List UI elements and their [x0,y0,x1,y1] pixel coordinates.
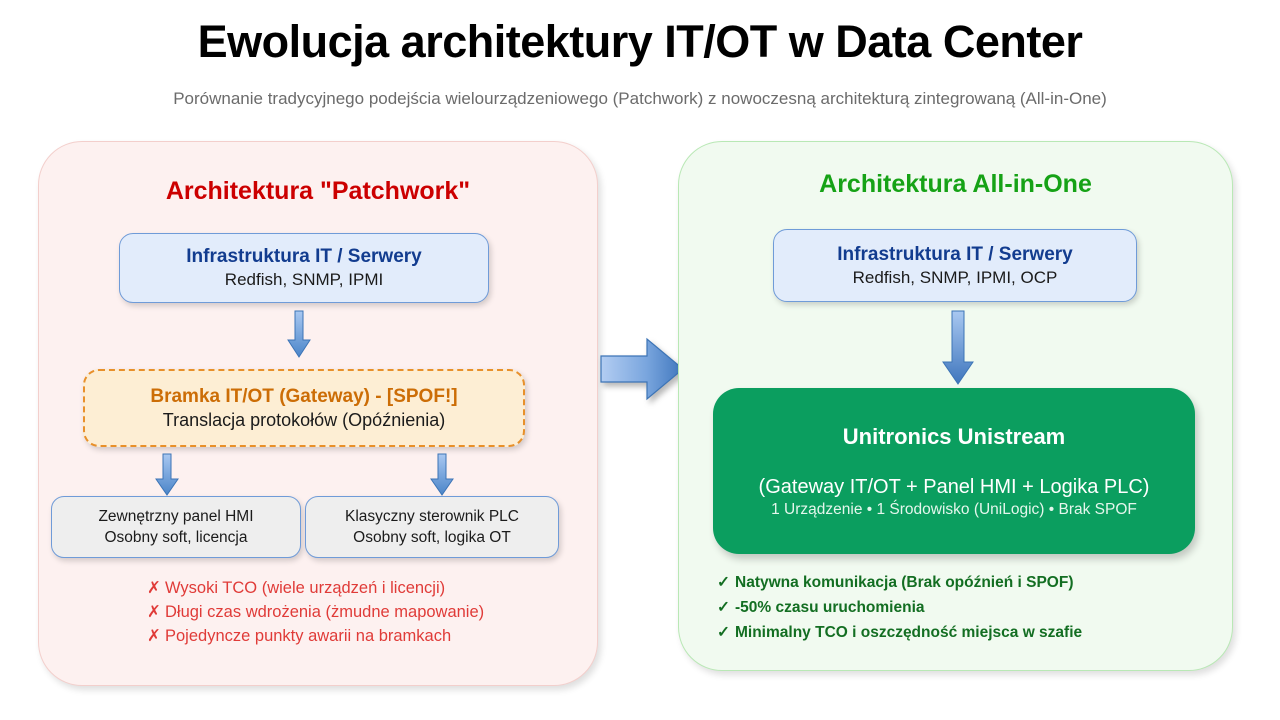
right-arrow-icon [600,337,685,401]
down-arrow-icon [429,453,455,499]
node-subtitle: Redfish, SNMP, IPMI, OCP [853,267,1058,289]
panel-allinone-heading: Architektura All-in-One [679,170,1232,199]
panel-patchwork: Architektura "Patchwork" Infrastruktura … [38,141,598,686]
panel-allinone: Architektura All-in-One Infrastruktura I… [678,141,1233,671]
check-icon: ✓ [717,597,735,618]
panel-patchwork-heading: Architektura "Patchwork" [39,177,597,206]
node-subtitle: Translacja protokołów (Opóźnienia) [163,409,445,431]
list-item: ✗ Wysoki TCO (wiele urządzeń i licencji) [147,578,484,599]
node-line1: Klasyczny sterownik PLC [345,506,519,527]
node-external-hmi-panel[interactable]: Zewnętrzny panel HMI Osobny soft, licenc… [51,496,301,558]
node-title: Infrastruktura IT / Serwery [837,243,1072,267]
down-arrow-icon [941,310,975,388]
node-line2: Osobny soft, logika OT [353,527,511,548]
down-arrow-icon [154,453,180,499]
list-item: ✓ Minimalny TCO i oszczędność miejsca w … [717,622,1082,643]
list-item-label: -50% czasu uruchomienia [735,597,925,618]
node-it-infrastructure-right[interactable]: Infrastruktura IT / Serwery Redfish, SNM… [773,229,1137,302]
node-gateway-spof[interactable]: Bramka IT/OT (Gateway) - [SPOF!] Transla… [83,369,525,447]
node-line1: Zewnętrzny panel HMI [98,506,253,527]
node-title: Infrastruktura IT / Serwery [186,245,421,269]
cross-icon: ✗ [147,578,165,599]
page-title: Ewolucja architektury IT/OT w Data Cente… [0,16,1280,68]
node-it-infrastructure-left[interactable]: Infrastruktura IT / Serwery Redfish, SNM… [119,233,489,303]
page-subtitle: Porównanie tradycyjnego podejścia wielou… [0,89,1280,109]
list-item-label: Długi czas wdrożenia (żmudne mapowanie) [165,602,484,623]
list-item: ✗ Długi czas wdrożenia (żmudne mapowanie… [147,602,484,623]
cross-icon: ✗ [147,602,165,623]
cons-list: ✗ Wysoki TCO (wiele urządzeń i licencji)… [147,578,484,647]
check-icon: ✓ [717,572,735,593]
list-item: ✗ Pojedyncze punkty awarii na bramkach [147,626,484,647]
pros-list: ✓ Natywna komunikacja (Brak opóźnień i S… [717,572,1082,643]
down-arrow-icon [286,310,312,362]
check-icon: ✓ [717,622,735,643]
list-item-label: Wysoki TCO (wiele urządzeń i licencji) [165,578,445,599]
node-subtitle: Redfish, SNMP, IPMI [225,269,383,291]
node-unitronics-unistream[interactable]: Unitronics Unistream (Gateway IT/OT + Pa… [713,388,1195,554]
list-item-label: Pojedyncze punkty awarii na bramkach [165,626,451,647]
list-item-label: Natywna komunikacja (Brak opóźnień i SPO… [735,572,1074,593]
list-item-label: Minimalny TCO i oszczędność miejsca w sz… [735,622,1082,643]
node-meta: 1 Urządzenie • 1 Środowisko (UniLogic) •… [771,501,1137,519]
cross-icon: ✗ [147,626,165,647]
list-item: ✓ -50% czasu uruchomienia [717,597,1082,618]
node-classic-plc-controller[interactable]: Klasyczny sterownik PLC Osobny soft, log… [305,496,559,558]
list-item: ✓ Natywna komunikacja (Brak opóźnień i S… [717,572,1082,593]
node-title: Unitronics Unistream [843,424,1066,450]
node-title: Bramka IT/OT (Gateway) - [SPOF!] [150,385,457,409]
node-line2: Osobny soft, licencja [104,527,247,548]
node-subtitle: (Gateway IT/OT + Panel HMI + Logika PLC) [759,476,1150,499]
